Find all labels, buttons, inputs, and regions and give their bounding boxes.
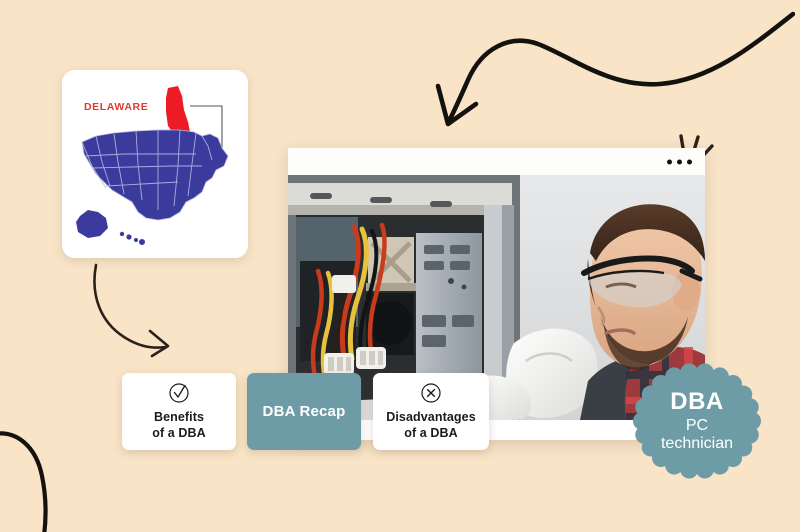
dba-badge-sub2: technician — [661, 435, 733, 453]
x-circle-icon — [420, 382, 442, 404]
dba-badge[interactable]: DBA PC technician — [622, 356, 772, 486]
card-dba-recap-label: DBA Recap — [263, 402, 346, 422]
dba-badge-main: DBA — [670, 389, 724, 416]
curved-arrow-left-icon — [72, 255, 187, 360]
card-benefits-line1: Benefits — [154, 409, 204, 426]
card-disadvantages-line2: of a DBA — [404, 425, 458, 442]
usa-map-delaware-highlight-icon — [62, 70, 248, 258]
card-dba-recap[interactable]: DBA Recap — [247, 373, 361, 450]
card-benefits[interactable]: Benefits of a DBA — [122, 373, 236, 450]
card-benefits-line2: of a DBA — [152, 425, 206, 442]
poster-canvas: DELAWARE — [0, 0, 800, 532]
card-disadvantages[interactable]: Disadvantages of a DBA — [373, 373, 489, 450]
map-card[interactable]: DELAWARE — [62, 70, 248, 258]
window-menu-dots-icon[interactable] — [667, 159, 692, 164]
dba-badge-text: DBA PC technician — [622, 356, 772, 486]
card-disadvantages-line1: Disadvantages — [386, 409, 476, 426]
check-circle-icon — [168, 382, 190, 404]
dba-badge-sub1: PC — [686, 417, 708, 435]
map-state-label: DELAWARE — [84, 101, 148, 113]
arc-bottom-left-icon — [0, 418, 74, 532]
browser-titlebar — [288, 148, 705, 175]
curved-arrow-top-right-icon — [420, 8, 795, 133]
